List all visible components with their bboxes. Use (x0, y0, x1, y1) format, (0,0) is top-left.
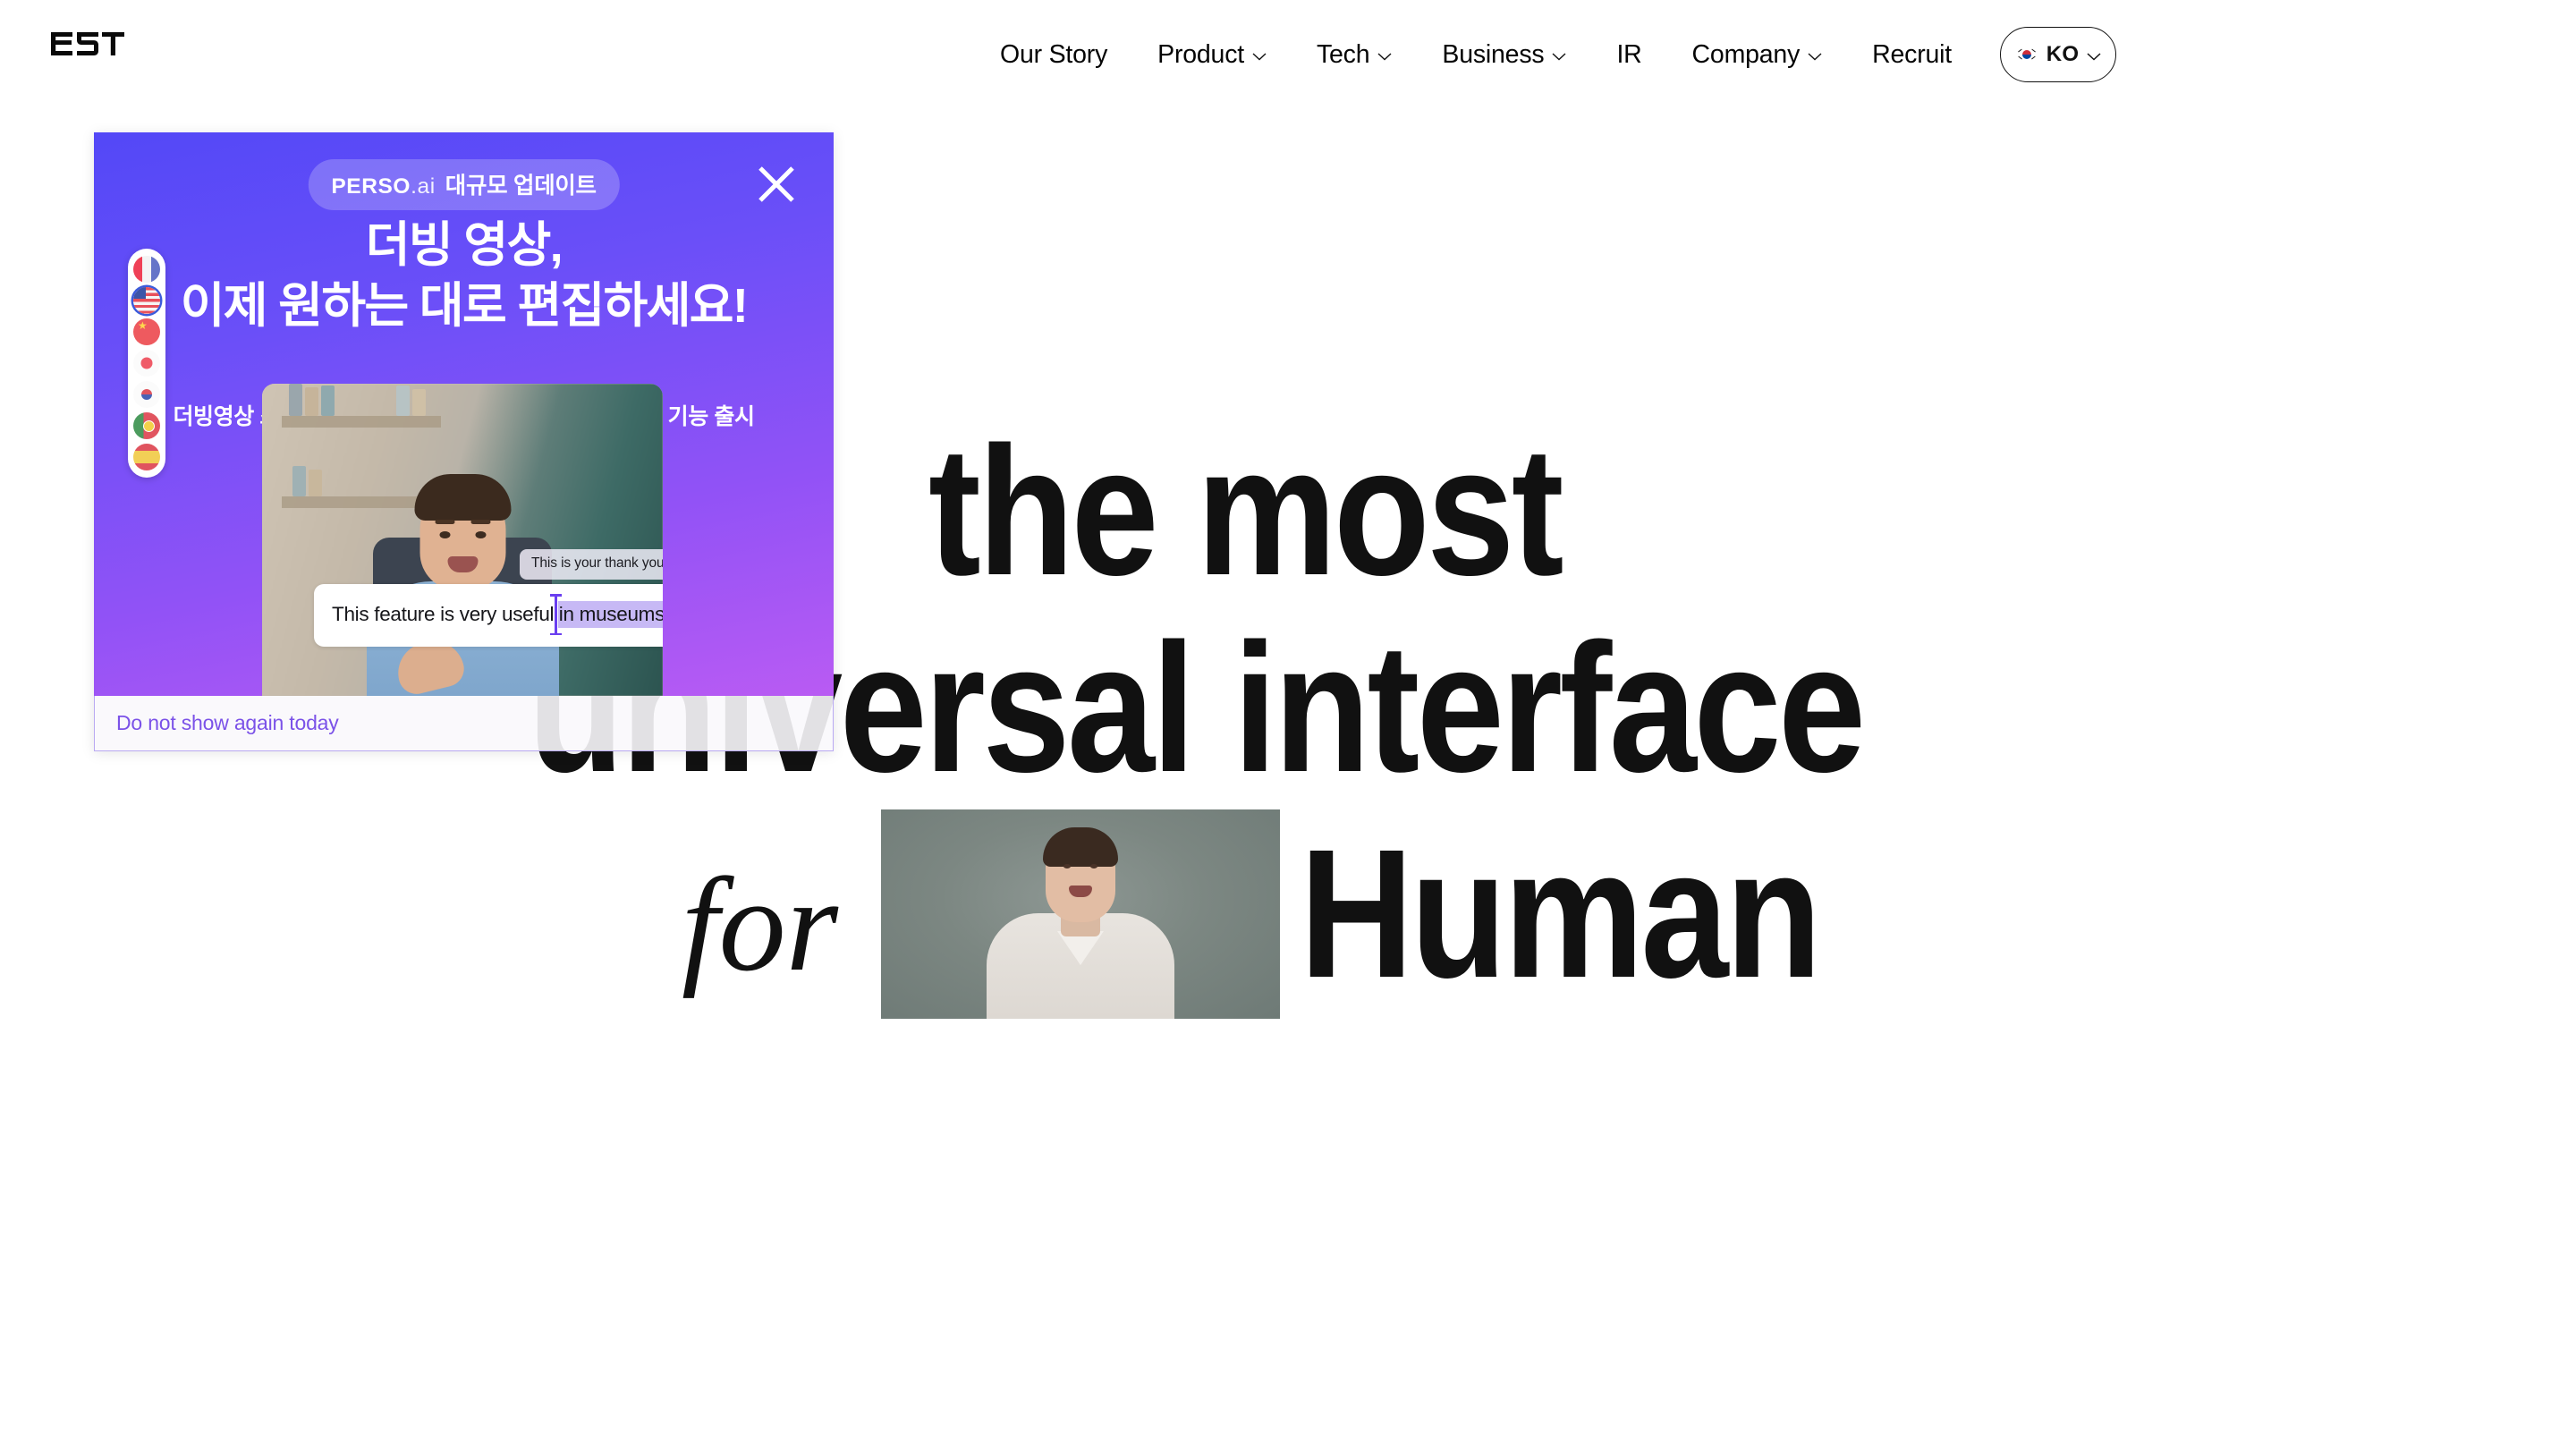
china-flag-icon[interactable] (133, 318, 160, 345)
kr-flag-icon (2015, 47, 2038, 63)
promo-modal-footer: Do not show again today (94, 696, 834, 751)
nav-label: Recruit (1872, 40, 1952, 70)
promo-demo-screenshot: This is your thank you slide. This featu… (262, 384, 663, 696)
portugal-flag-icon[interactable] (133, 412, 160, 439)
japan-flag-icon[interactable] (133, 350, 160, 377)
language-selector[interactable]: KO (2000, 27, 2116, 82)
promo-title-line-2: 이제 원하는 대로 편집하세요! (94, 275, 834, 336)
nav-item-recruit[interactable]: Recruit (1872, 31, 1952, 79)
korea-flag-icon[interactable] (133, 381, 160, 408)
nav-label: Product (1157, 40, 1244, 70)
nav-item-company[interactable]: Company (1692, 31, 1823, 79)
hero-for-word: for (682, 858, 838, 992)
main-nav: Our Story Product Tech Business (1000, 0, 1952, 109)
demo-language-rail (128, 249, 165, 478)
spain-flag-icon[interactable] (133, 444, 160, 470)
chevron-down-icon (1377, 53, 1392, 61)
nav-item-product[interactable]: Product (1157, 31, 1267, 79)
language-code: KO (2046, 42, 2080, 67)
nav-item-tech[interactable]: Tech (1317, 31, 1392, 79)
promo-title-line-1: 더빙 영상, (94, 215, 834, 275)
nav-item-ir[interactable]: IR (1616, 31, 1641, 79)
demo-tooltip: This is your thank you slide. (520, 549, 663, 580)
hero-headline-line-3: Human (1300, 832, 1818, 997)
chevron-down-icon (1808, 53, 1822, 61)
demo-subtitle-editor[interactable]: This feature is very useful in museums. (314, 584, 663, 647)
do-not-show-again-link[interactable]: Do not show again today (116, 711, 339, 735)
demo-subtitle-text: This feature is very useful (332, 603, 554, 626)
nav-label: Our Story (1000, 40, 1107, 70)
promo-modal-body: PERSO.ai 대규모 업데이트 더빙 영상, 이제 원하는 대로 편집하세요… (94, 132, 834, 696)
promo-modal-title: 더빙 영상, 이제 원하는 대로 편집하세요! (94, 215, 834, 336)
promo-badge: PERSO.ai 대규모 업데이트 (308, 159, 619, 210)
demo-subtitle-selection: in museums. (558, 601, 663, 628)
hero-avatar-video[interactable] (881, 809, 1280, 1019)
hero-headline-line-1: the most (928, 429, 1561, 595)
promo-badge-brand: PERSO.ai (331, 174, 435, 199)
chevron-down-icon (2087, 53, 2101, 61)
nav-item-our-story[interactable]: Our Story (1000, 31, 1107, 79)
nav-label: IR (1616, 40, 1641, 70)
france-flag-icon[interactable] (133, 256, 160, 283)
nav-item-business[interactable]: Business (1442, 31, 1566, 79)
est-logo[interactable] (51, 32, 124, 55)
text-cursor-icon (555, 594, 557, 635)
nav-label: Tech (1317, 40, 1369, 70)
close-icon[interactable] (751, 159, 801, 209)
nav-label: Business (1442, 40, 1544, 70)
usa-flag-icon[interactable] (133, 287, 160, 314)
chevron-down-icon (1552, 53, 1566, 61)
hero-headline-row-3: for Human (682, 809, 1903, 1019)
nav-label: Company (1692, 40, 1801, 70)
promo-modal: PERSO.ai 대규모 업데이트 더빙 영상, 이제 원하는 대로 편집하세요… (94, 132, 834, 751)
promo-badge-text: 대규모 업데이트 (445, 167, 597, 200)
chevron-down-icon (1252, 53, 1267, 61)
site-header: Our Story Product Tech Business (0, 0, 2576, 109)
page-root: Our Story Product Tech Business (0, 0, 2576, 1449)
